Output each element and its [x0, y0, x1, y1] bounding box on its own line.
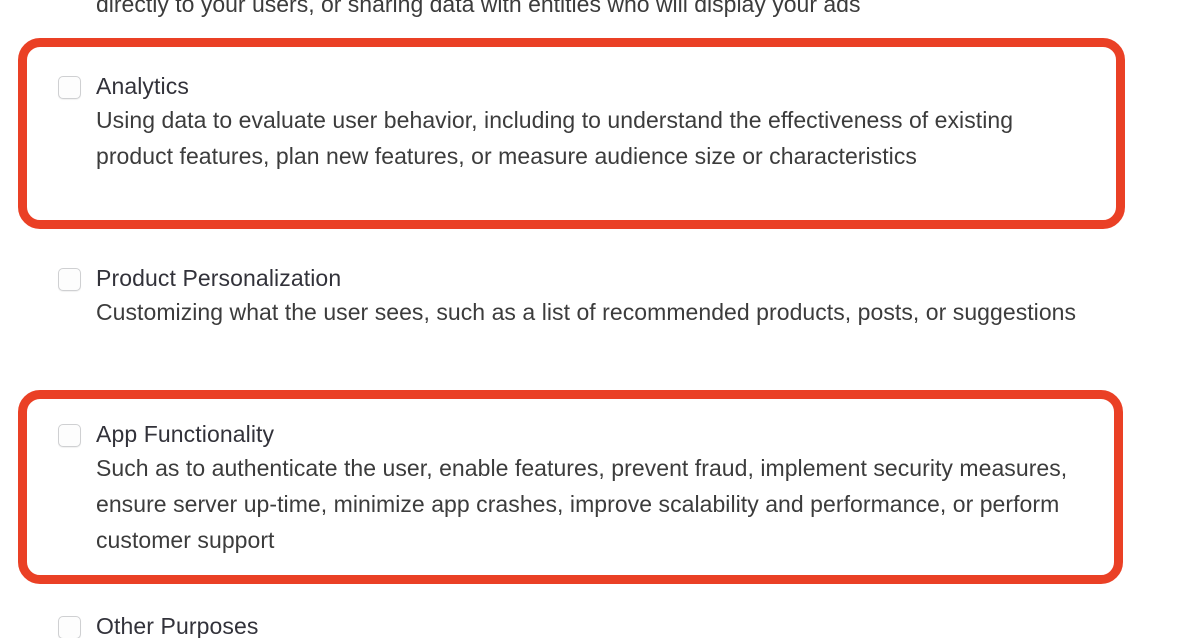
purposes-checklist-screen: directly to your users, or sharing data …	[0, 0, 1180, 638]
purpose-description-product-personalization: Customizing what the user sees, such as …	[96, 294, 1076, 330]
purpose-row-product-personalization[interactable]: Product Personalization Customizing what…	[58, 262, 1103, 330]
checkbox-app-functionality[interactable]	[58, 424, 81, 447]
purpose-title-product-personalization: Product Personalization	[96, 262, 1076, 294]
purpose-text-product-personalization: Product Personalization Customizing what…	[96, 262, 1076, 330]
purpose-description-app-functionality: Such as to authenticate the user, enable…	[96, 450, 1108, 558]
purpose-title-app-functionality: App Functionality	[96, 418, 1108, 450]
purpose-title-analytics: Analytics	[96, 70, 1068, 102]
truncated-previous-description: directly to your users, or sharing data …	[96, 0, 1106, 22]
purpose-row-app-functionality[interactable]: App Functionality Such as to authenticat…	[58, 418, 1108, 558]
checkbox-analytics[interactable]	[58, 76, 81, 99]
purpose-text-app-functionality: App Functionality Such as to authenticat…	[96, 418, 1108, 558]
checkbox-product-personalization[interactable]	[58, 268, 81, 291]
purpose-text-other-purposes: Other Purposes	[96, 610, 258, 638]
purpose-row-other-purposes[interactable]: Other Purposes	[58, 610, 658, 638]
purpose-text-analytics: Analytics Using data to evaluate user be…	[96, 70, 1068, 174]
purpose-row-analytics[interactable]: Analytics Using data to evaluate user be…	[58, 70, 1068, 174]
purpose-title-other-purposes: Other Purposes	[96, 610, 258, 638]
purpose-description-analytics: Using data to evaluate user behavior, in…	[96, 102, 1068, 174]
checkbox-other-purposes[interactable]	[58, 616, 81, 638]
